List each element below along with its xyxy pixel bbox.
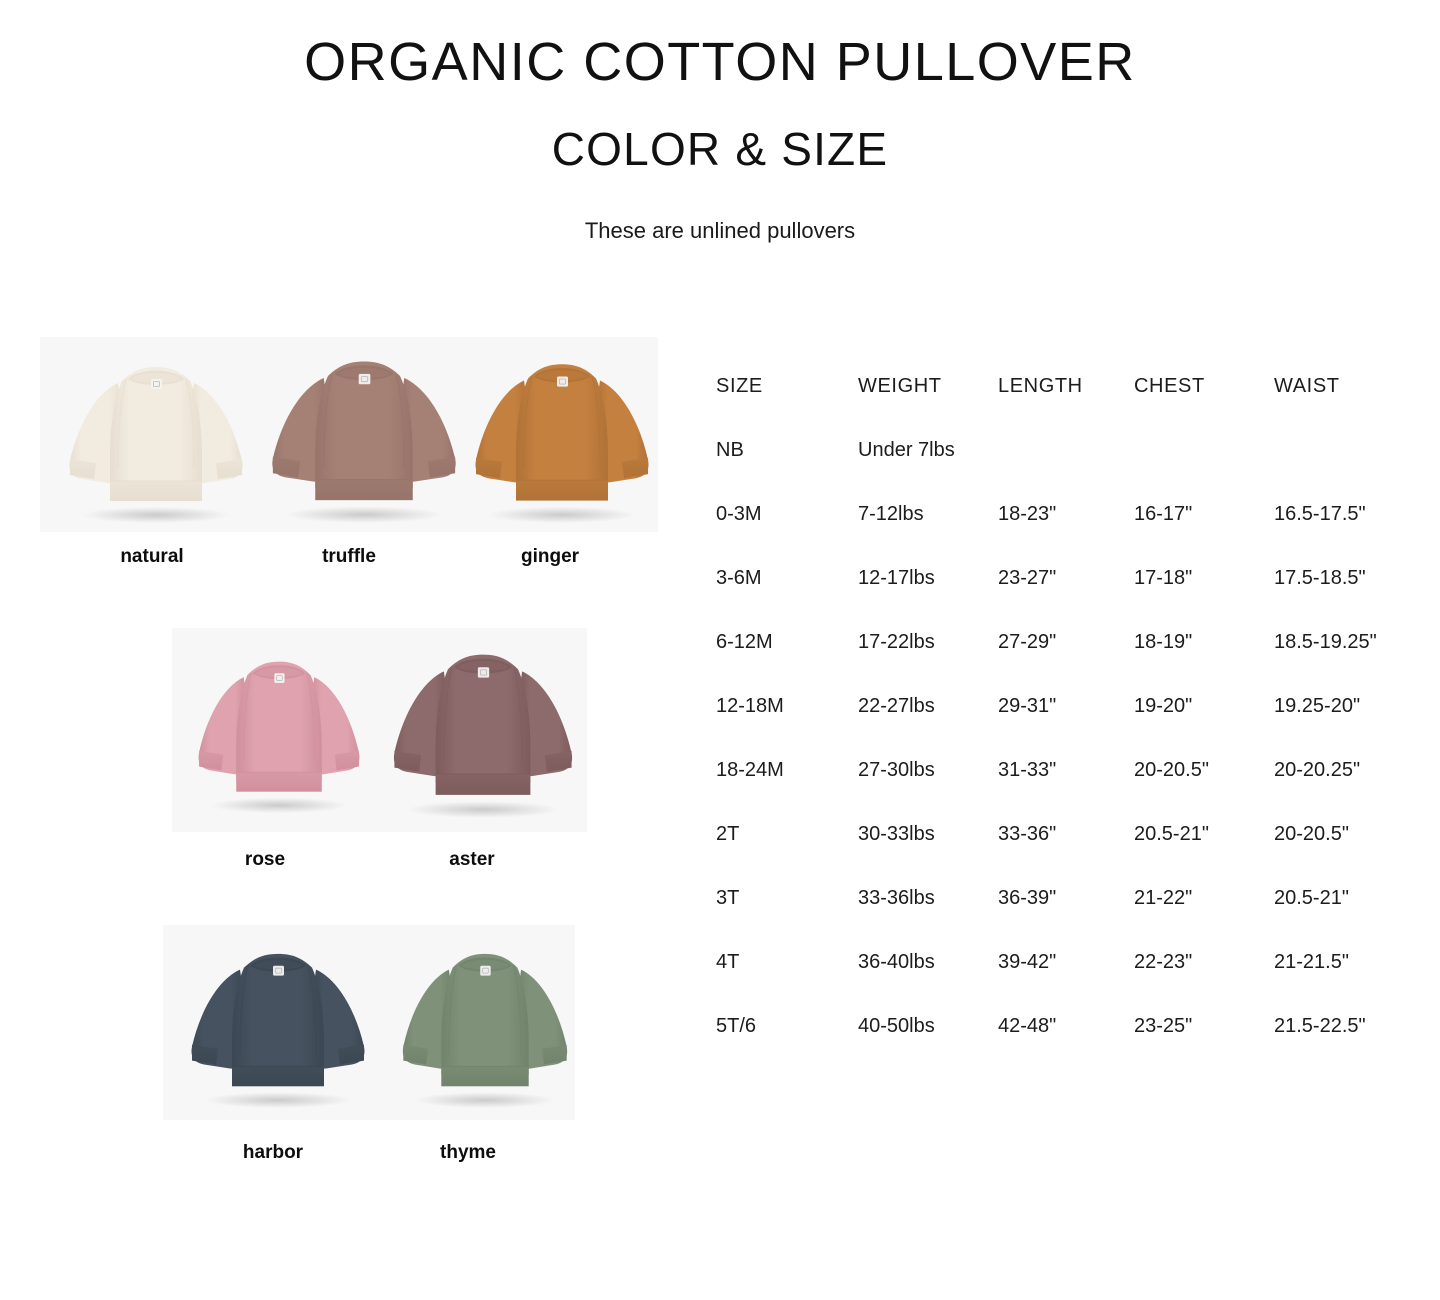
cell-chest: 19-20" xyxy=(1134,695,1192,718)
cell-weight: 33-36lbs xyxy=(858,887,935,910)
swatch-label-truffle: truffle xyxy=(255,546,443,568)
cell-length: 33-36" xyxy=(998,823,1056,846)
column-header-length: LENGTH xyxy=(998,375,1083,398)
cell-chest: 16-17" xyxy=(1134,503,1192,526)
cell-waist: 17.5-18.5" xyxy=(1274,567,1366,590)
sweater-aster xyxy=(380,640,586,820)
table-row: 3T33-36lbs36-39"21-22"20.5-21" xyxy=(716,887,1416,951)
cell-length: 39-42" xyxy=(998,951,1056,974)
cell-waist: 20-20.5" xyxy=(1274,823,1349,846)
table-row: 4T36-40lbs39-42"22-23"21-21.5" xyxy=(716,951,1416,1015)
cell-size: 12-18M xyxy=(716,695,784,718)
cell-weight: 7-12lbs xyxy=(858,503,924,526)
sweater-truffle xyxy=(258,347,470,525)
sweater-harbor xyxy=(178,940,378,1110)
sweater-illustration xyxy=(258,347,470,525)
cell-weight: Under 7lbs xyxy=(858,439,955,462)
cell-size: 18-24M xyxy=(716,759,784,782)
sweater-illustration xyxy=(380,640,586,820)
cell-length: 42-48" xyxy=(998,1015,1056,1038)
cell-weight: 40-50lbs xyxy=(858,1015,935,1038)
swatch-label-thyme: thyme xyxy=(375,1142,561,1164)
table-row: NBUnder 7lbs xyxy=(716,439,1416,503)
cell-chest: 21-22" xyxy=(1134,887,1192,910)
cell-size: 5T/6 xyxy=(716,1015,756,1038)
sweater-rose xyxy=(186,648,372,815)
size-table: SIZE WEIGHT LENGTH CHEST WAIST NBUnder 7… xyxy=(716,375,1416,1079)
cell-size: NB xyxy=(716,439,744,462)
column-header-weight: WEIGHT xyxy=(858,375,942,398)
cell-length: 18-23" xyxy=(998,503,1056,526)
table-row: 18-24M27-30lbs31-33"20-20.5"20-20.25" xyxy=(716,759,1416,823)
cell-weight: 36-40lbs xyxy=(858,951,935,974)
cell-waist: 16.5-17.5" xyxy=(1274,503,1366,526)
table-row: 5T/640-50lbs42-48"23-25"21.5-22.5" xyxy=(716,1015,1416,1079)
size-chart-page: ORGANIC COTTON PULLOVER COLOR & SIZE The… xyxy=(0,0,1440,1300)
cell-length: 29-31" xyxy=(998,695,1056,718)
table-header-row: SIZE WEIGHT LENGTH CHEST WAIST xyxy=(716,375,1416,439)
cell-waist: 21-21.5" xyxy=(1274,951,1349,974)
cell-chest: 20-20.5" xyxy=(1134,759,1209,782)
cell-chest: 18-19" xyxy=(1134,631,1192,654)
swatch-label-natural: natural xyxy=(58,546,246,568)
sweater-illustration xyxy=(56,353,256,525)
cell-weight: 30-33lbs xyxy=(858,823,935,846)
cell-waist: 20.5-21" xyxy=(1274,887,1349,910)
cell-waist: 21.5-22.5" xyxy=(1274,1015,1366,1038)
cell-size: 2T xyxy=(716,823,739,846)
column-header-waist: WAIST xyxy=(1274,375,1340,398)
sweater-ginger xyxy=(462,350,662,525)
cell-chest: 20.5-21" xyxy=(1134,823,1209,846)
cell-chest: 17-18" xyxy=(1134,567,1192,590)
page-note: These are unlined pullovers xyxy=(0,218,1440,244)
column-header-chest: CHEST xyxy=(1134,375,1205,398)
table-row: 0-3M7-12lbs18-23"16-17"16.5-17.5" xyxy=(716,503,1416,567)
cell-chest: 22-23" xyxy=(1134,951,1192,974)
cell-size: 3-6M xyxy=(716,567,762,590)
cell-waist: 18.5-19.25" xyxy=(1274,631,1377,654)
cell-length: 27-29" xyxy=(998,631,1056,654)
table-row: 3-6M12-17lbs23-27"17-18"17.5-18.5" xyxy=(716,567,1416,631)
sweater-illustration xyxy=(186,648,372,815)
table-row: 2T30-33lbs33-36"20.5-21"20-20.5" xyxy=(716,823,1416,887)
cell-waist: 19.25-20" xyxy=(1274,695,1360,718)
swatch-label-aster: aster xyxy=(383,849,561,871)
cell-size: 3T xyxy=(716,887,739,910)
cell-weight: 27-30lbs xyxy=(858,759,935,782)
table-row: 6-12M17-22lbs27-29"18-19"18.5-19.25" xyxy=(716,631,1416,695)
cell-length: 23-27" xyxy=(998,567,1056,590)
cell-waist: 20-20.25" xyxy=(1274,759,1360,782)
sweater-illustration xyxy=(390,940,580,1110)
sweater-thyme xyxy=(390,940,580,1110)
cell-size: 4T xyxy=(716,951,739,974)
cell-size: 0-3M xyxy=(716,503,762,526)
swatch-label-rose: rose xyxy=(176,849,354,871)
table-row: 12-18M22-27lbs29-31"19-20"19.25-20" xyxy=(716,695,1416,759)
cell-length: 36-39" xyxy=(998,887,1056,910)
cell-length: 31-33" xyxy=(998,759,1056,782)
cell-weight: 17-22lbs xyxy=(858,631,935,654)
page-subtitle: COLOR & SIZE xyxy=(0,122,1440,177)
sweater-illustration xyxy=(178,940,378,1110)
cell-size: 6-12M xyxy=(716,631,773,654)
sweater-illustration xyxy=(462,350,662,525)
swatch-label-harbor: harbor xyxy=(180,1142,366,1164)
cell-weight: 12-17lbs xyxy=(858,567,935,590)
swatch-label-ginger: ginger xyxy=(456,546,644,568)
table-body: NBUnder 7lbs0-3M7-12lbs18-23"16-17"16.5-… xyxy=(716,439,1416,1079)
cell-weight: 22-27lbs xyxy=(858,695,935,718)
sweater-natural xyxy=(56,353,256,525)
page-title: ORGANIC COTTON PULLOVER xyxy=(0,30,1440,95)
cell-chest: 23-25" xyxy=(1134,1015,1192,1038)
column-header-size: SIZE xyxy=(716,375,763,398)
